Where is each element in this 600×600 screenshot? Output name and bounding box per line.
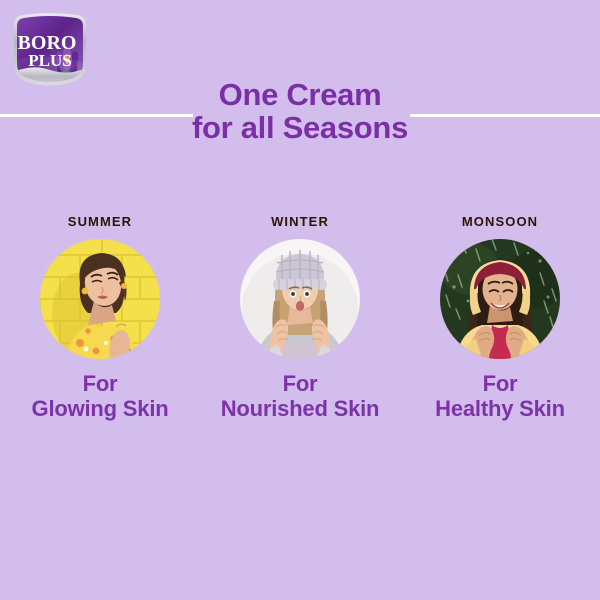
summer-caption-line-2: Glowing Skin [32,396,169,421]
season-caption-winter: For Nourished Skin [221,371,380,421]
logo-text-plus: PLUS [28,51,71,70]
season-column-winter: WINTER [200,214,400,421]
season-label-monsoon: MONSOON [462,214,538,229]
season-caption-summer: For Glowing Skin [32,371,169,421]
headline-area: One Cream for all Seasons [0,78,600,160]
page-title: One Cream for all Seasons [0,78,600,144]
winter-woman-knit-hat-photo [240,239,360,359]
season-label-summer: SUMMER [68,214,132,229]
summer-caption-line-1: For [32,371,169,396]
monsoon-caption-line-2: Healthy Skin [435,396,565,421]
winter-caption-line-2: Nourished Skin [221,396,380,421]
season-column-monsoon: MONSOON [400,214,600,421]
monsoon-woman-raincoat-photo [440,239,560,359]
monsoon-caption-line-1: For [435,371,565,396]
page-title-line-2: for all Seasons [0,111,600,144]
page-title-line-1: One Cream [0,78,600,111]
summer-woman-yellow-wall-photo [40,239,160,359]
seasons-row: SUMMER [0,214,600,421]
season-column-summer: SUMMER [0,214,200,421]
season-label-winter: WINTER [271,214,329,229]
season-caption-monsoon: For Healthy Skin [435,371,565,421]
winter-caption-line-1: For [221,371,380,396]
